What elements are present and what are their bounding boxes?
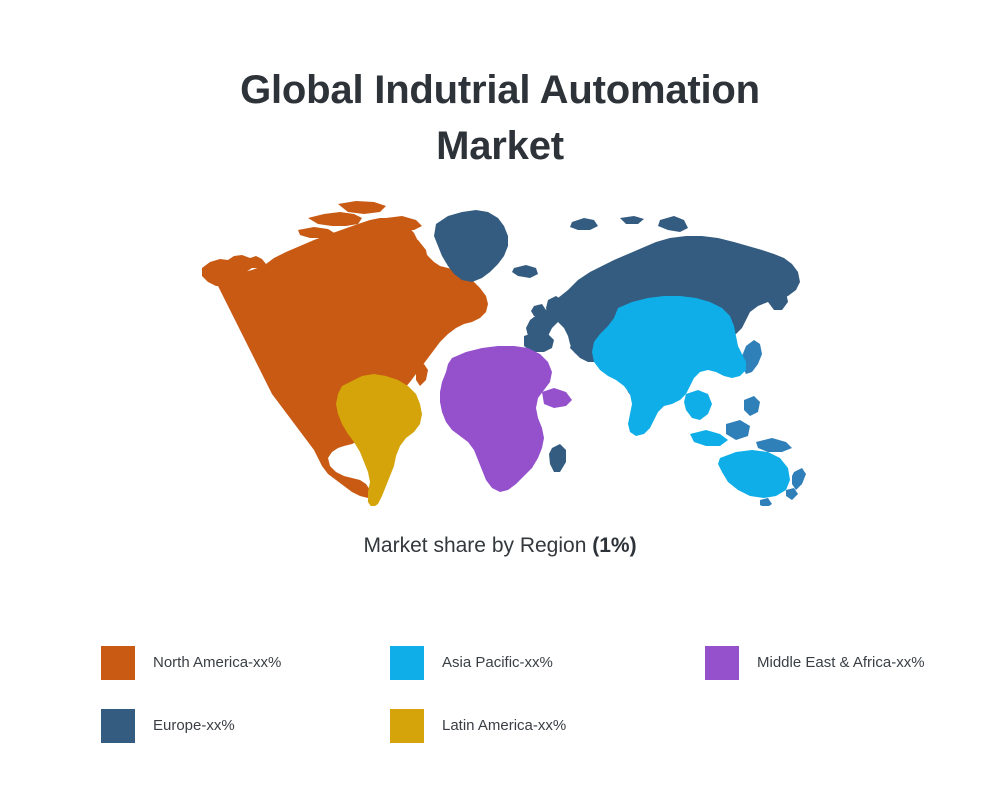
map-shape-new-zealand: [792, 468, 806, 490]
legend-label-latin-america: Latin America-xx%: [442, 716, 566, 736]
map-shape-asia-mainland: [592, 296, 746, 436]
map-shape-borneo: [726, 420, 750, 440]
chart-legend: North America-xx% Europe-xx% Asia Pacifi…: [0, 640, 1000, 750]
map-shape-philippines: [744, 396, 760, 416]
chart-subtitle-text: Market share by Region: [363, 534, 592, 557]
chart-subtitle-emphasis: (1%): [592, 534, 636, 557]
legend-label-asia-pacific: Asia Pacific-xx%: [442, 653, 553, 673]
map-shape-iceland: [512, 265, 538, 278]
legend-item-north-america[interactable]: North America-xx%: [101, 645, 281, 681]
map-shape-svalbard: [570, 218, 598, 230]
map-shape-arctic-island-2: [338, 201, 386, 214]
world-map: [190, 196, 810, 506]
legend-swatch-asia-pacific: [390, 646, 424, 680]
legend-swatch-middle-east-africa: [705, 646, 739, 680]
legend-swatch-latin-america: [390, 709, 424, 743]
map-region-asia-pacific[interactable]: [592, 296, 806, 506]
legend-item-asia-pacific[interactable]: Asia Pacific-xx%: [390, 645, 553, 681]
legend-swatch-europe: [101, 709, 135, 743]
chart-subtitle: Market share by Region (1%): [0, 531, 1000, 561]
map-shape-novaya-zemlya: [658, 216, 688, 232]
legend-item-latin-america[interactable]: Latin America-xx%: [390, 708, 566, 744]
map-shape-florida: [416, 364, 428, 386]
map-shape-tasmania: [760, 498, 772, 506]
legend-item-europe[interactable]: Europe-xx%: [101, 708, 235, 744]
legend-label-north-america: North America-xx%: [153, 653, 281, 673]
map-shape-arctic-islands: [308, 212, 362, 226]
world-map-svg: [190, 196, 810, 506]
map-shape-indochina: [684, 390, 712, 420]
map-shape-madagascar: [549, 444, 566, 472]
map-shape-arctic-fragments: [620, 216, 644, 224]
map-shape-australia: [718, 450, 790, 498]
legend-swatch-north-america: [101, 646, 135, 680]
page-title: Global Indutrial Automation Market: [0, 62, 1000, 174]
map-shape-indonesia: [690, 430, 728, 446]
map-shape-new-guinea: [756, 438, 792, 452]
page-title-text: Global Indutrial Automation Market: [0, 62, 1000, 174]
infographic-canvas: Global Indutrial Automation Market: [0, 0, 1000, 800]
map-shape-africa: [440, 346, 552, 492]
legend-label-europe: Europe-xx%: [153, 716, 235, 736]
legend-label-middle-east-africa: Middle East & Africa-xx%: [757, 653, 925, 673]
map-region-middle-east-africa[interactable]: [440, 346, 572, 492]
map-shape-horn-of-africa: [542, 388, 572, 408]
legend-item-middle-east-africa[interactable]: Middle East & Africa-xx%: [705, 645, 925, 681]
